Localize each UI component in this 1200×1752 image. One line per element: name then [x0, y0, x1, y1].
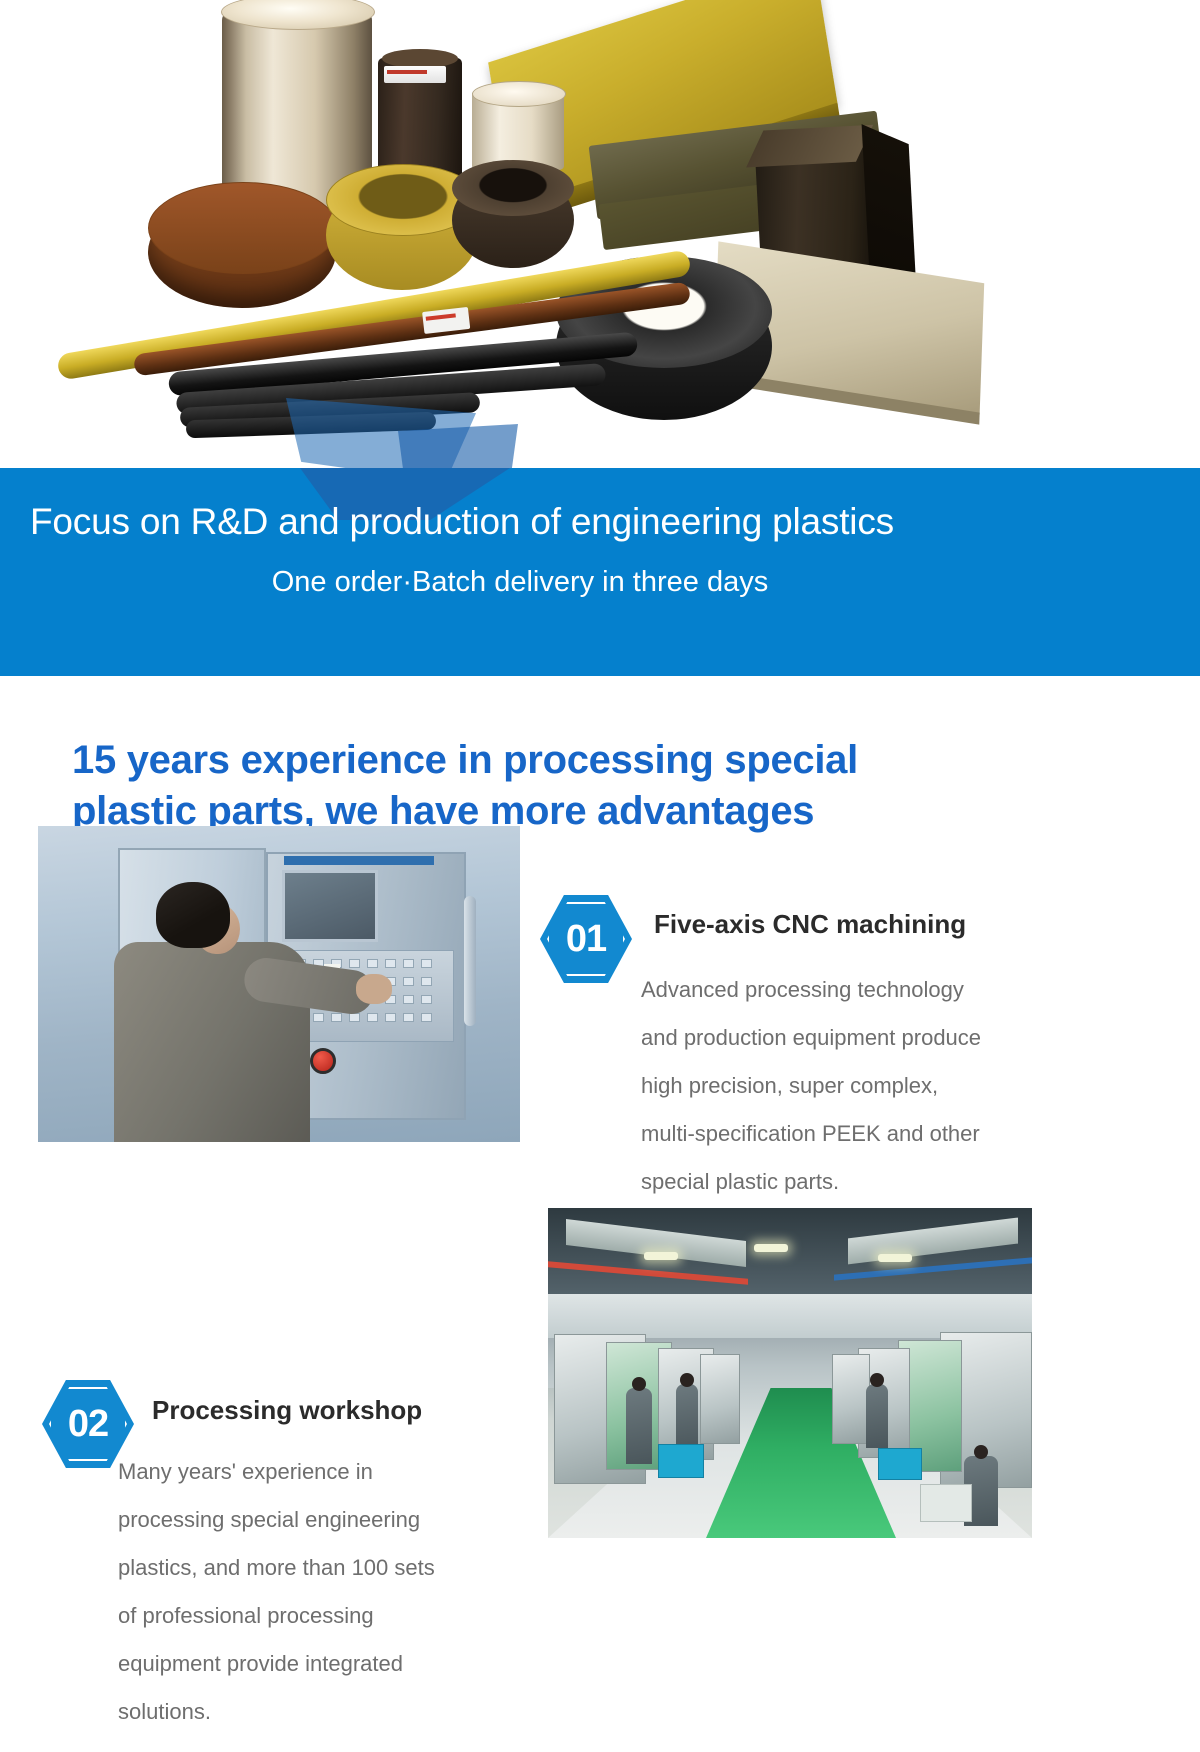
- cnc-emergency-stop-button: [310, 1048, 336, 1074]
- workshop-cart-2: [878, 1448, 922, 1480]
- advantage-body-02-line-5: equipment provide integrated: [118, 1640, 538, 1688]
- advantage-body-01-line-3: high precision, super complex,: [641, 1062, 1081, 1110]
- product-rod-label: [422, 307, 470, 334]
- photo-content: [38, 826, 520, 1142]
- tagline-banner: Focus on R&D and production of engineeri…: [0, 468, 1200, 676]
- advantage-number-01: 01: [540, 895, 632, 983]
- advantage-title-02: Processing workshop: [152, 1394, 572, 1426]
- workshop-machine-l4: [700, 1354, 740, 1444]
- operator-head: [156, 882, 230, 948]
- advantage-body-02-line-2: processing special engineering: [118, 1496, 538, 1544]
- workshop-worker-1: [626, 1388, 652, 1464]
- advantage-body-02-line-6: solutions.: [118, 1688, 538, 1736]
- processing-workshop-photo: [548, 1208, 1032, 1538]
- cnc-machining-photo: [38, 826, 520, 1142]
- advantage-body-01-line-2: and production equipment produce: [641, 1014, 1081, 1062]
- cnc-display-screen: [282, 870, 378, 942]
- advantage-title-01: Five-axis CNC machining: [654, 908, 1114, 940]
- advantage-body-01-line-5: special plastic parts.: [641, 1158, 1081, 1206]
- operator-hand: [356, 974, 392, 1004]
- workshop-lamp-1: [644, 1252, 678, 1260]
- banner-subheadline: One order·Batch delivery in three days: [0, 564, 1040, 600]
- product-cream-cylinder: [472, 92, 564, 170]
- page-title-line-1: 15 years experience in processing specia…: [72, 735, 1072, 786]
- cnc-brand-strip: [284, 856, 434, 865]
- product-dark-block: [378, 58, 462, 180]
- workshop-worker-2: [676, 1384, 698, 1450]
- workshop-cart-1: [658, 1444, 704, 1478]
- advantage-body-01-line-4: multi-specification PEEK and other: [641, 1110, 1081, 1158]
- advantage-body-01-line-1: Advanced processing technology: [641, 966, 1081, 1014]
- workshop-lamp-3: [878, 1254, 912, 1262]
- workshop-worker-3: [866, 1384, 888, 1448]
- advantage-badge-01: 01: [540, 895, 632, 983]
- product-dark-ring: [452, 172, 574, 268]
- product-label-sticker: [384, 66, 446, 83]
- advantage-body-02-line-1: Many years' experience in: [118, 1448, 538, 1496]
- hero-product-image: [0, 0, 1200, 470]
- advantage-body-01: Advanced processing technology and produ…: [641, 966, 1081, 1206]
- page-title: 15 years experience in processing specia…: [72, 735, 1072, 837]
- banner-headline: Focus on R&D and production of engineeri…: [30, 500, 1170, 544]
- workshop-cart-3: [920, 1484, 972, 1522]
- advantage-body-02: Many years' experience in processing spe…: [118, 1448, 538, 1736]
- advantage-body-02-line-3: plastics, and more than 100 sets: [118, 1544, 538, 1592]
- product-brown-ring: [148, 196, 336, 308]
- workshop-lamp-2: [754, 1244, 788, 1252]
- cnc-door-handle: [464, 896, 476, 1026]
- photo-content: [548, 1208, 1032, 1538]
- advantage-body-02-line-4: of professional processing: [118, 1592, 538, 1640]
- hero-image-canvas: [0, 0, 1200, 470]
- hero-blue-facet-2: [398, 424, 518, 470]
- workshop-machine-r4: [832, 1354, 870, 1444]
